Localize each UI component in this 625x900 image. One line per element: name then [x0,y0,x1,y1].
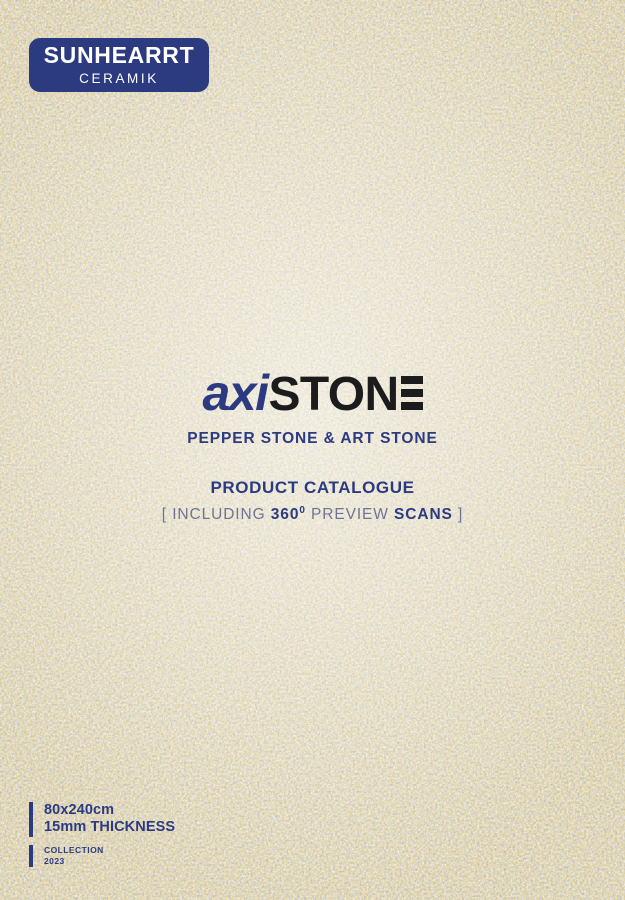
catalogue-cover-page: SUNHEARRT CERAMIK axiSTON PEPPER STONE &… [0,0,625,900]
spec-row-dimensions: 80x240cm 15mm THICKNESS [29,802,175,837]
spec-collection-year: 2023 [44,856,104,867]
page-title: axiSTON [0,368,625,419]
stone-texture-warm-flecks [0,0,625,900]
catalogue-note: [ INCLUDING 3600 PREVIEW SCANS ] [0,505,625,524]
spec-row-collection: COLLECTION 2023 [29,845,175,867]
catalogue-heading: PRODUCT CATALOGUE [0,478,625,498]
specification-block: 80x240cm 15mm THICKNESS COLLECTION 2023 [29,802,175,867]
stone-texture-fine [0,0,625,900]
page-vignette [0,0,625,900]
note-middle-text: PREVIEW [306,506,394,523]
note-close-text: ] [453,506,463,523]
product-title-block: axiSTON PEPPER STONE & ART STONE [0,368,625,448]
title-accent-part: axi [202,368,267,418]
spec-size: 80x240cm [44,802,175,820]
note-strong-text: SCANS [394,506,453,523]
brand-logo: SUNHEARRT CERAMIK [29,38,209,92]
brand-subtitle: CERAMIK [79,72,159,86]
note-open-text: [ INCLUDING [162,506,271,523]
spec-dimensions-text: 80x240cm 15mm THICKNESS [33,802,175,837]
title-dark-part: STON [268,371,398,419]
catalogue-block: PRODUCT CATALOGUE [ INCLUDING 3600 PREVI… [0,478,625,524]
title-final-e-icon [401,376,423,410]
spec-thickness: 15mm THICKNESS [44,819,175,837]
spec-collection-text: COLLECTION 2023 [33,845,104,867]
brand-name: SUNHEARRT [44,44,195,67]
spec-collection-label: COLLECTION [44,845,104,856]
product-tagline: PEPPER STONE & ART STONE [0,430,625,448]
note-number: 360 [271,506,300,523]
